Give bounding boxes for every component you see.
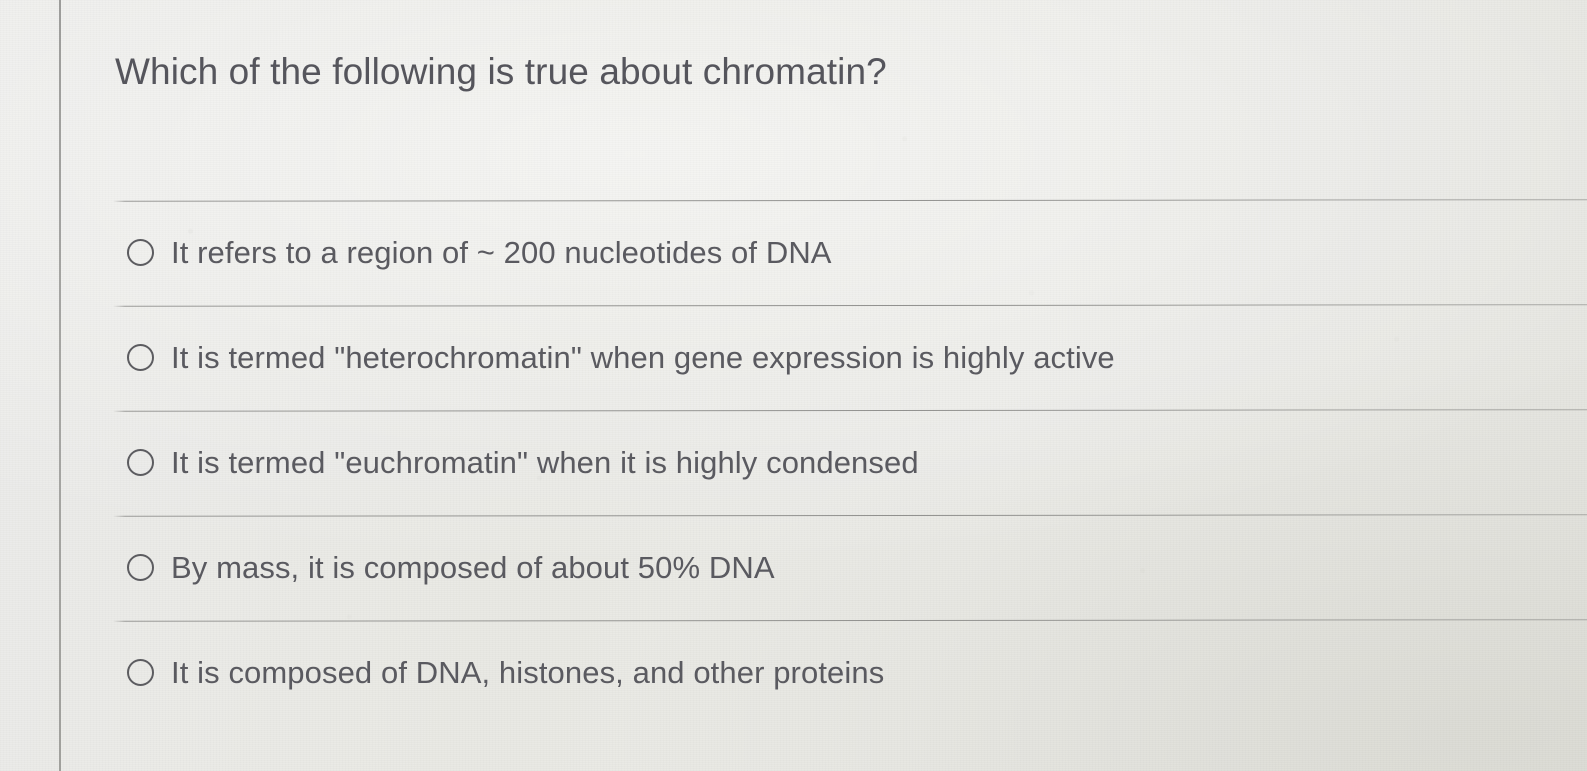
page-title: Which of the following is true about chr…: [115, 48, 887, 95]
list-item[interactable]: It refers to a region of ~ 200 nucleotid…: [0, 200, 1587, 305]
list-item[interactable]: It is termed "heterochromatin" when gene…: [0, 305, 1587, 410]
radio-button-icon[interactable]: [127, 554, 154, 581]
option-3-label: It is termed "euchromatin" when it is hi…: [171, 444, 919, 481]
list-item[interactable]: It is termed "euchromatin" when it is hi…: [0, 410, 1587, 515]
option-2-label: It is termed "heterochromatin" when gene…: [171, 339, 1115, 376]
option-5-row[interactable]: It is composed of DNA, histones, and oth…: [127, 620, 884, 725]
list-item[interactable]: It is composed of DNA, histones, and oth…: [0, 620, 1587, 725]
question-content: Which of the following is true about chr…: [0, 0, 1587, 771]
option-1-label: It refers to a region of ~ 200 nucleotid…: [171, 234, 832, 271]
radio-button-icon[interactable]: [127, 239, 154, 266]
radio-button-icon[interactable]: [127, 344, 154, 371]
list-item[interactable]: By mass, it is composed of about 50% DNA: [0, 515, 1587, 620]
option-1-row[interactable]: It refers to a region of ~ 200 nucleotid…: [127, 200, 832, 305]
option-4-row[interactable]: By mass, it is composed of about 50% DNA: [127, 515, 775, 620]
option-2-row[interactable]: It is termed "heterochromatin" when gene…: [127, 305, 1115, 410]
option-5-label: It is composed of DNA, histones, and oth…: [171, 654, 884, 691]
answer-options-list: It refers to a region of ~ 200 nucleotid…: [0, 200, 1587, 725]
option-4-label: By mass, it is composed of about 50% DNA: [171, 549, 775, 586]
radio-button-icon[interactable]: [127, 449, 154, 476]
radio-button-icon[interactable]: [127, 659, 154, 686]
option-3-row[interactable]: It is termed "euchromatin" when it is hi…: [127, 410, 919, 515]
